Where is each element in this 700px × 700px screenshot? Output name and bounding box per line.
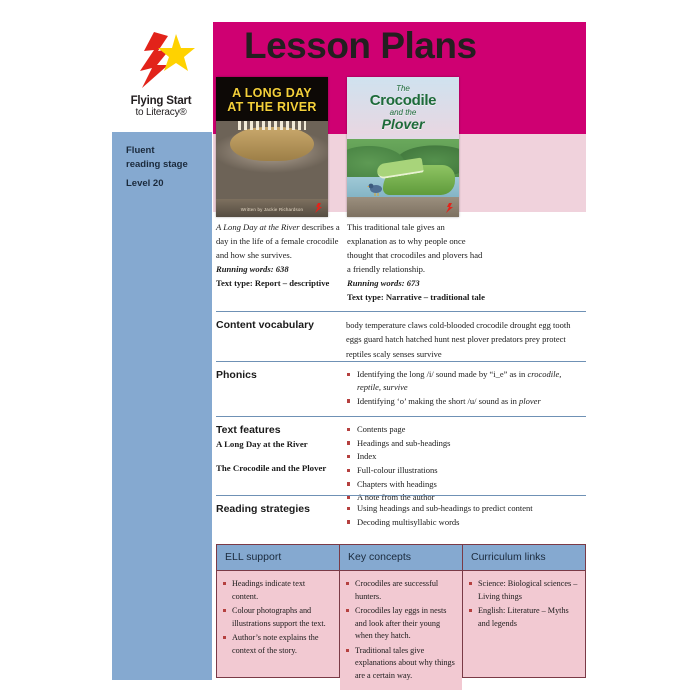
phonics-item: Identifying ‘o’ making the short /u/ sou…	[346, 395, 586, 408]
book-cover-the-crocodile-and-the-plover: The Crocodile and the Plover	[347, 77, 459, 217]
text-features-list: Contents page Headings and sub-headings …	[346, 423, 586, 505]
cover-a-title-line1: A LONG DAY	[216, 86, 328, 100]
phonics-list: Identifying the long /i/ sound made by “…	[346, 368, 586, 408]
book-b-text-type: Text type: Narrative – traditional tale	[347, 291, 487, 305]
book-a-running-words-value: 638	[276, 264, 289, 274]
box-key-concepts-body: Crocodiles are successful hunters. Croco…	[340, 571, 462, 690]
list-item: Crocodiles are successful hunters.	[345, 578, 455, 603]
text-features-item: Headings and sub-headings	[346, 437, 586, 450]
book-a-text-type-label: Text type:	[216, 278, 253, 288]
cover-b-bank	[347, 197, 459, 217]
box-ell-support-body: Headings indicate text content. Colour p…	[217, 571, 339, 677]
list-item: Colour photographs and illustrations sup…	[222, 605, 332, 630]
reading-stage-sidebar: Fluent reading stage Level 20	[112, 132, 212, 680]
text-features-body: Contents page Headings and sub-headings …	[346, 423, 586, 505]
text-features-sub-book-a: A Long Day at the River	[216, 439, 356, 449]
text-features-item: Chapters with headings	[346, 478, 586, 491]
text-features-label: Text features	[216, 424, 344, 436]
text-features-item: Full-colour illustrations	[346, 464, 586, 477]
book-b-description: This traditional tale gives an explanati…	[347, 221, 487, 305]
phonics-item: Identifying the long /i/ sound made by “…	[346, 368, 586, 394]
box-curriculum-links-list: Science: Biological sciences – Living th…	[468, 578, 578, 630]
box-key-concepts: Key concepts Crocodiles are successful h…	[340, 545, 463, 677]
box-ell-support-list: Headings indicate text content. Colour p…	[222, 578, 332, 657]
content-vocabulary-label: Content vocabulary	[216, 319, 344, 331]
plover-bird-icon	[367, 181, 384, 197]
box-key-concepts-title: Key concepts	[340, 545, 462, 571]
phonics-item-pre: Identifying ‘o’ making the short /u/ sou…	[357, 396, 519, 406]
summary-boxes: ELL support Headings indicate text conte…	[216, 544, 586, 678]
list-item: Traditional tales give explanations abou…	[345, 645, 455, 683]
reading-stage-label: Fluent reading stage	[126, 144, 210, 172]
list-item: Headings indicate text content.	[222, 578, 332, 603]
brand-logo: Flying Start to Literacy®	[112, 30, 210, 118]
book-b-running-words: Running words: 673	[347, 277, 487, 291]
box-ell-support: ELL support Headings indicate text conte…	[217, 545, 340, 677]
book-a-text-type: Text type: Report – descriptive	[216, 277, 342, 291]
book-a-title-italic: A Long Day at the River	[216, 222, 300, 232]
book-a-text-type-value: Report – descriptive	[255, 278, 329, 288]
list-item: English: Literature – Myths and legends	[468, 605, 578, 630]
reading-strategies-body: Using headings and sub-headings to predi…	[346, 502, 586, 529]
text-features-sub-book-b: The Crocodile and the Plover	[216, 463, 356, 473]
book-b-text-type-label: Text type:	[347, 292, 384, 302]
book-b-running-words-label: Running words:	[347, 278, 405, 288]
reading-stage-line2: reading stage	[126, 158, 210, 172]
lesson-plan-page: Lesson Plans Flying Start to Literacy® F…	[0, 0, 700, 700]
text-features-item: Contents page	[346, 423, 586, 436]
list-item: Science: Biological sciences – Living th…	[468, 578, 578, 603]
book-b-blurb-text: This traditional tale gives an explanati…	[347, 222, 482, 274]
section-reading-strategies: Reading strategies Using headings and su…	[216, 495, 586, 540]
cover-a-author: Written by Jackie Richardson	[216, 207, 328, 212]
crocodile-snout-shape	[230, 127, 314, 161]
section-content-vocabulary: Content vocabulary body temperature claw…	[216, 311, 586, 362]
crocodile-teeth-shape	[238, 121, 306, 130]
box-ell-support-title: ELL support	[217, 545, 339, 571]
phonics-body: Identifying the long /i/ sound made by “…	[346, 368, 586, 409]
list-item: Crocodiles lay eggs in nests and look af…	[345, 605, 455, 643]
phonics-label: Phonics	[216, 369, 344, 381]
cover-b-title-line4: Plover	[347, 117, 459, 132]
box-curriculum-links-body: Science: Biological sciences – Living th…	[463, 571, 585, 677]
book-cover-a-long-day-at-the-river: A LONG DAY AT THE RIVER Written by Jacki…	[216, 77, 328, 217]
section-text-features: Text features A Long Day at the River Th…	[216, 416, 586, 496]
box-curriculum-links: Curriculum links Science: Biological sci…	[463, 545, 585, 677]
book-b-text-type-value: Narrative – traditional tale	[386, 292, 485, 302]
brand-name: Flying Start	[112, 95, 210, 107]
book-a-description: A Long Day at the River describes a day …	[216, 221, 342, 291]
reading-strategies-list: Using headings and sub-headings to predi…	[346, 502, 586, 529]
book-a-running-words: Running words: 638	[216, 263, 342, 277]
cover-a-publisher-logo-icon	[314, 203, 323, 213]
page-title: Lesson Plans	[244, 27, 477, 64]
star-burst-logo-icon	[124, 30, 198, 92]
box-curriculum-links-title: Curriculum links	[463, 545, 585, 571]
book-a-running-words-label: Running words:	[216, 264, 274, 274]
cover-a-title-line2: AT THE RIVER	[216, 100, 328, 114]
box-key-concepts-list: Crocodiles are successful hunters. Croco…	[345, 578, 455, 683]
list-item: Author’s note explains the context of th…	[222, 632, 332, 657]
cover-a-title: A LONG DAY AT THE RIVER	[216, 86, 328, 114]
text-features-item: Index	[346, 450, 586, 463]
phonics-item-italic: plover	[519, 396, 541, 406]
reading-stage-line1: Fluent	[126, 144, 210, 158]
section-phonics: Phonics Identifying the long /i/ sound m…	[216, 361, 586, 417]
reading-level-label: Level 20	[126, 178, 164, 189]
content-vocabulary-words: body temperature claws cold-blooded croc…	[346, 318, 586, 361]
cover-b-title: The Crocodile and the Plover	[347, 85, 459, 132]
cover-b-title-line2: Crocodile	[347, 93, 459, 109]
brand-tagline: to Literacy®	[112, 107, 210, 118]
reading-strategies-label: Reading strategies	[216, 503, 344, 515]
reading-strategies-item: Decoding multisyllabic words	[346, 516, 586, 529]
cover-b-publisher-logo-icon	[445, 203, 454, 213]
reading-strategies-item: Using headings and sub-headings to predi…	[346, 502, 586, 515]
book-b-running-words-value: 673	[407, 278, 420, 288]
phonics-item-pre: Identifying the long /i/ sound made by “…	[357, 369, 527, 379]
